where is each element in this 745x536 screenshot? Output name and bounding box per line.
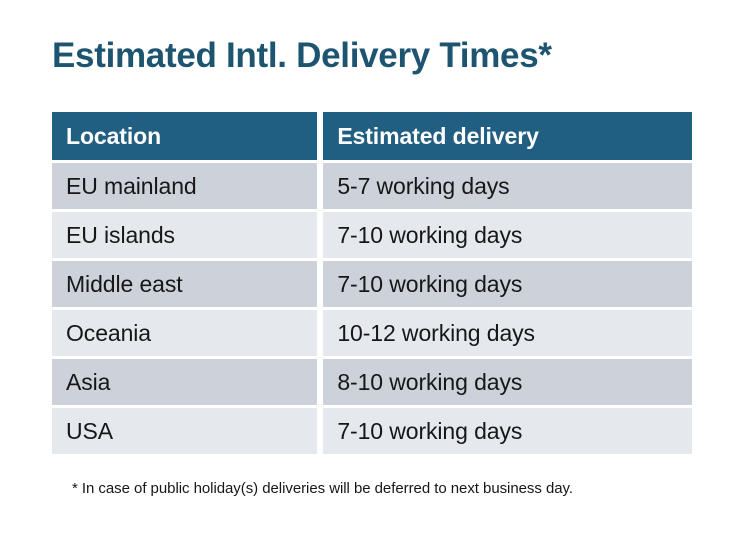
cell-location: EU islands bbox=[52, 212, 317, 258]
cell-delivery: 7-10 working days bbox=[323, 212, 692, 258]
table-row: Asia 8-10 working days bbox=[52, 359, 692, 405]
table-row: USA 7-10 working days bbox=[52, 408, 692, 454]
cell-location: Asia bbox=[52, 359, 317, 405]
page-title: Estimated Intl. Delivery Times* bbox=[52, 37, 552, 76]
table-row: EU mainland 5-7 working days bbox=[52, 163, 692, 209]
delivery-times-page: Estimated Intl. Delivery Times* Location… bbox=[0, 0, 745, 536]
column-header-estimated-delivery: Estimated delivery bbox=[323, 112, 692, 160]
cell-delivery: 10-12 working days bbox=[323, 310, 692, 356]
cell-location: Middle east bbox=[52, 261, 317, 307]
table-row: Oceania 10-12 working days bbox=[52, 310, 692, 356]
cell-delivery: 5-7 working days bbox=[323, 163, 692, 209]
cell-delivery: 7-10 working days bbox=[323, 408, 692, 454]
cell-delivery: 8-10 working days bbox=[323, 359, 692, 405]
cell-location: Oceania bbox=[52, 310, 317, 356]
cell-location: EU mainland bbox=[52, 163, 317, 209]
table-row: EU islands 7-10 working days bbox=[52, 212, 692, 258]
cell-location: USA bbox=[52, 408, 317, 454]
table-row: Middle east 7-10 working days bbox=[52, 261, 692, 307]
table-header-row: Location Estimated delivery bbox=[52, 112, 692, 160]
estimated-delivery-table: Location Estimated delivery EU mainland … bbox=[52, 112, 692, 454]
column-header-location: Location bbox=[52, 112, 317, 160]
footnote: * In case of public holiday(s) deliverie… bbox=[72, 480, 573, 497]
cell-delivery: 7-10 working days bbox=[323, 261, 692, 307]
